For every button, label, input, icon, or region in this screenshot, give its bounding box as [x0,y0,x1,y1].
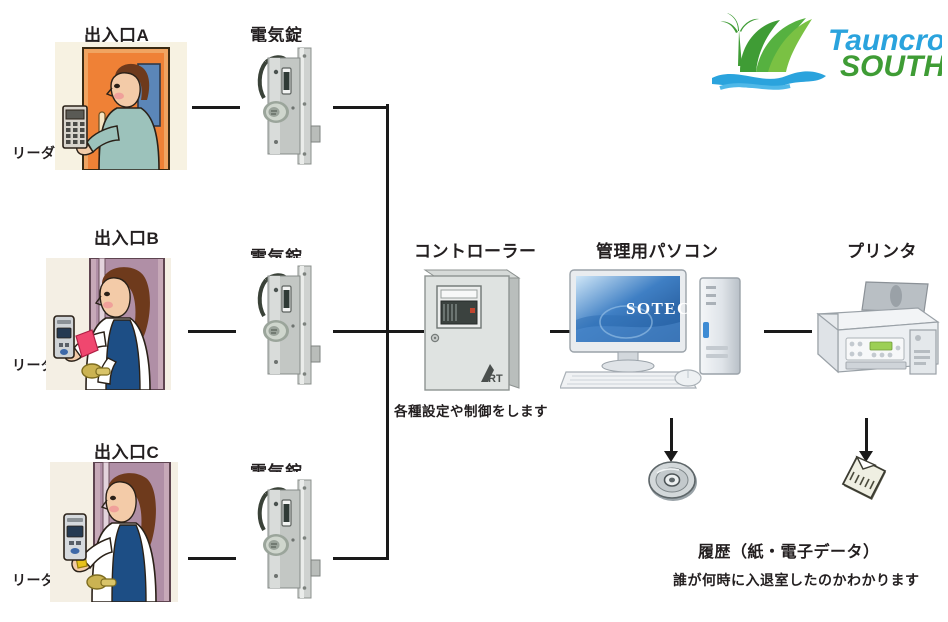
link-lock-c-to-bus [333,557,389,560]
printer-title: プリンタ [847,237,917,262]
cd-disc-icon [645,455,701,507]
door-b-illustration [46,258,171,390]
link-bus-to-controller [386,330,424,333]
link-lock-b-to-bus [333,330,389,333]
electric-lock-a [252,42,324,170]
door-c-illustration [50,462,178,602]
diagram-canvas: Tauncross SOUTH 出入口A 電気錠 リーダー [0,0,948,622]
svg-text:RT: RT [488,373,503,385]
link-lock-a-to-bus [333,106,389,109]
management-pc: SOTEC [560,268,760,392]
printer-unit [812,278,942,388]
logo-graphic: Tauncross SOUTH [706,6,942,92]
paper-document-icon [838,452,894,508]
link-door-a-to-lock-a [192,106,240,109]
controller-unit: RT [423,268,521,392]
door-b-title: 出入口B [94,224,159,249]
controller-title: コントローラー [414,237,537,262]
electric-lock-b [252,258,324,390]
link-door-b-to-lock-b [188,330,236,333]
logo-brand-bottom: SOUTH [840,50,942,83]
door-a-illustration [55,42,187,170]
electric-lock-c [252,472,324,604]
pc-title: 管理用パソコン [596,237,719,262]
tauncross-south-logo: Tauncross SOUTH [706,6,942,92]
link-pc-to-printer [764,330,812,333]
pc-screen-brand: SOTEC [626,299,691,318]
door-c-title: 出入口C [94,438,159,463]
history-caption: 誰が何時に入退室したのかわかります [673,570,920,590]
link-door-c-to-lock-c [188,557,236,560]
controller-caption: 各種設定や制御をします [394,400,548,420]
history-title: 履歴（紙・電子データ） [698,538,880,562]
